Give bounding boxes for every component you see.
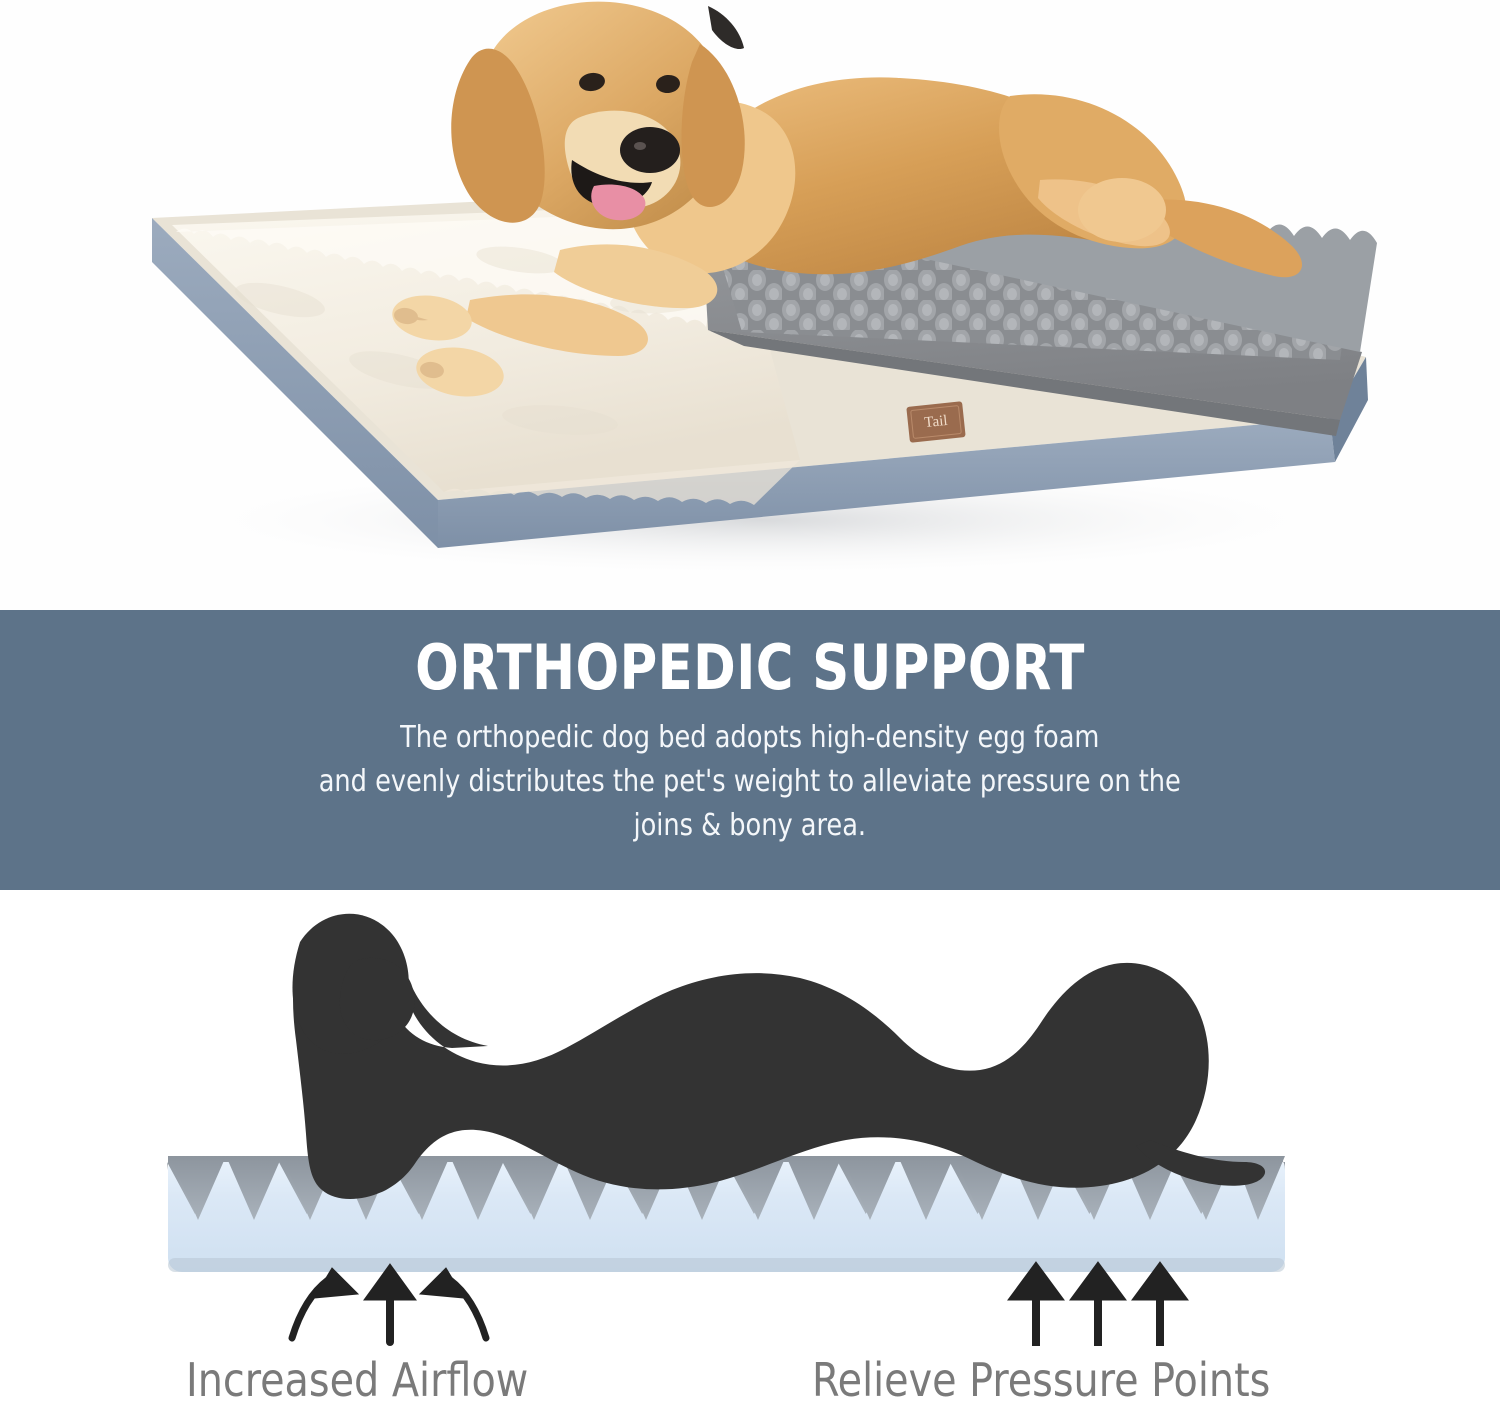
pressure-arrow-2 [1070, 1262, 1126, 1346]
hero-product-photo: Tail [0, 0, 1500, 610]
pressure-arrow-group [1008, 1262, 1188, 1346]
svg-text:Tail: Tail [924, 413, 949, 431]
banner-line-1: The orthopedic dog bed adopts high-densi… [319, 716, 1181, 760]
caption-relieve-pressure-points: Relieve Pressure Points [812, 1352, 1270, 1408]
product-infographic: Tail [0, 0, 1500, 1416]
brand-logo-tag: Tail [906, 401, 965, 443]
foam-slab-shadow [168, 1258, 1285, 1272]
airflow-arrow-group [292, 1264, 486, 1342]
banner-description: The orthopedic dog bed adopts high-densi… [319, 716, 1181, 848]
banner-line-2: and evenly distributes the pet's weight … [319, 760, 1181, 804]
banner-title: ORTHOPEDIC SUPPORT [415, 636, 1085, 700]
diagram-captions: Increased Airflow Relieve Pressure Point… [0, 1352, 1500, 1416]
airflow-arrow-2 [364, 1264, 416, 1342]
banner-line-3: joins & bony area. [319, 804, 1181, 848]
pressure-arrow-3 [1132, 1262, 1188, 1346]
orthopedic-support-banner: ORTHOPEDIC SUPPORT The orthopedic dog be… [0, 610, 1500, 890]
pressure-arrow-1 [1008, 1262, 1064, 1346]
airflow-pressure-diagram [0, 890, 1500, 1416]
caption-increased-airflow: Increased Airflow [186, 1352, 528, 1408]
foam-cross-section-illustration [0, 890, 1500, 1416]
airflow-arrow-3 [420, 1268, 486, 1338]
dog-on-bed-illustration: Tail [0, 0, 1500, 610]
airflow-arrow-1 [292, 1268, 358, 1338]
